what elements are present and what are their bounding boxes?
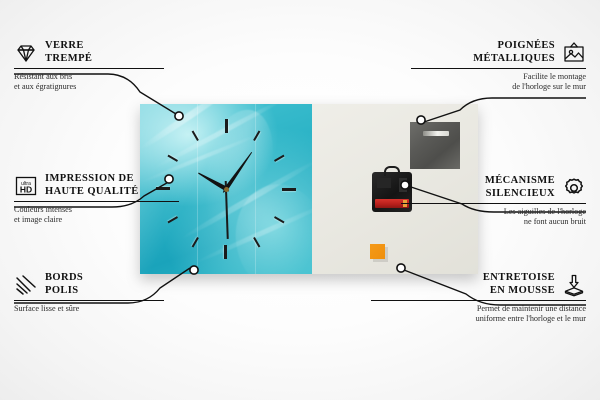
- feature-header: POIGNÉES MÉTALLIQUES: [411, 40, 586, 65]
- feature-title: POIGNÉES MÉTALLIQUES: [473, 40, 555, 65]
- feature-desc-line1: Facilite le montage: [411, 72, 586, 82]
- mechanism-hanger-loop: [384, 166, 400, 176]
- divider: [14, 68, 164, 69]
- divider: [411, 68, 586, 69]
- feature-desc-line2: et image claire: [14, 215, 179, 225]
- feature-verre-trempe: VERRE TREMPÉ Résistant aux bris et aux é…: [14, 40, 164, 92]
- arrow-onto-pad-icon: [562, 273, 586, 297]
- ultra-hd-icon: ultra HD: [14, 174, 38, 198]
- feature-desc-line2: ne font aucun bruit: [401, 217, 586, 227]
- feature-title: BORDS POLIS: [45, 272, 83, 297]
- divider: [14, 201, 179, 202]
- infographic-canvas: VERRE TREMPÉ Résistant aux bris et aux é…: [0, 0, 600, 400]
- feature-mecanisme-silencieux: MÉCANISME SILENCIEUX Les aiguilles de l'…: [401, 175, 586, 227]
- divider: [401, 203, 586, 204]
- feature-header: BORDS POLIS: [14, 272, 164, 297]
- feature-impression-haute-qualite: ultra HD IMPRESSION DE HAUTE QUALITÉ Cou…: [14, 173, 179, 225]
- feature-header: VERRE TREMPÉ: [14, 40, 164, 65]
- feature-header: ultra HD IMPRESSION DE HAUTE QUALITÉ: [14, 173, 179, 198]
- divider: [14, 300, 164, 301]
- gear-icon: [562, 176, 586, 200]
- feature-title: ENTRETOISE EN MOUSSE: [483, 272, 555, 297]
- feature-title: MÉCANISME SILENCIEUX: [485, 175, 555, 200]
- feature-header: MÉCANISME SILENCIEUX: [401, 175, 586, 200]
- feature-header: ENTRETOISE EN MOUSSE: [371, 272, 586, 297]
- feature-bords-polis: BORDS POLIS Surface lisse et sûre: [14, 272, 164, 314]
- feature-title: VERRE TREMPÉ: [45, 40, 92, 65]
- svg-text:HD: HD: [20, 184, 32, 194]
- diagonal-lines-icon: [14, 273, 38, 297]
- feature-desc-line1: Surface lisse et sûre: [14, 304, 164, 314]
- feature-desc-line1: Les aiguilles de l'horloge: [401, 207, 586, 217]
- foam-spacer: [370, 244, 385, 259]
- feature-entretoise-en-mousse: ENTRETOISE EN MOUSSE Permet de maintenir…: [371, 272, 586, 324]
- feature-desc-line2: de l'horloge sur le mur: [411, 82, 586, 92]
- feature-title: IMPRESSION DE HAUTE QUALITÉ: [45, 173, 139, 198]
- hanger-slot: [423, 131, 449, 136]
- feature-desc-line1: Résistant aux bris: [14, 72, 164, 82]
- mechanism-detail: [377, 178, 391, 188]
- feature-desc-line1: Permet de maintenir une distance: [371, 304, 586, 314]
- divider: [371, 300, 586, 301]
- feature-poignees-metalliques: POIGNÉES MÉTALLIQUES Facilite le montage…: [411, 40, 586, 92]
- feature-desc-line2: uniforme entre l'horloge et le mur: [371, 314, 586, 324]
- hanging-frame-icon: [562, 41, 586, 65]
- clock-center-cap: [224, 187, 229, 192]
- feature-desc-line2: et aux égratignures: [14, 82, 164, 92]
- feature-desc-line1: Couleurs intenses: [14, 205, 179, 215]
- metal-hanger-plate: [410, 122, 460, 169]
- diamond-icon: [14, 41, 38, 65]
